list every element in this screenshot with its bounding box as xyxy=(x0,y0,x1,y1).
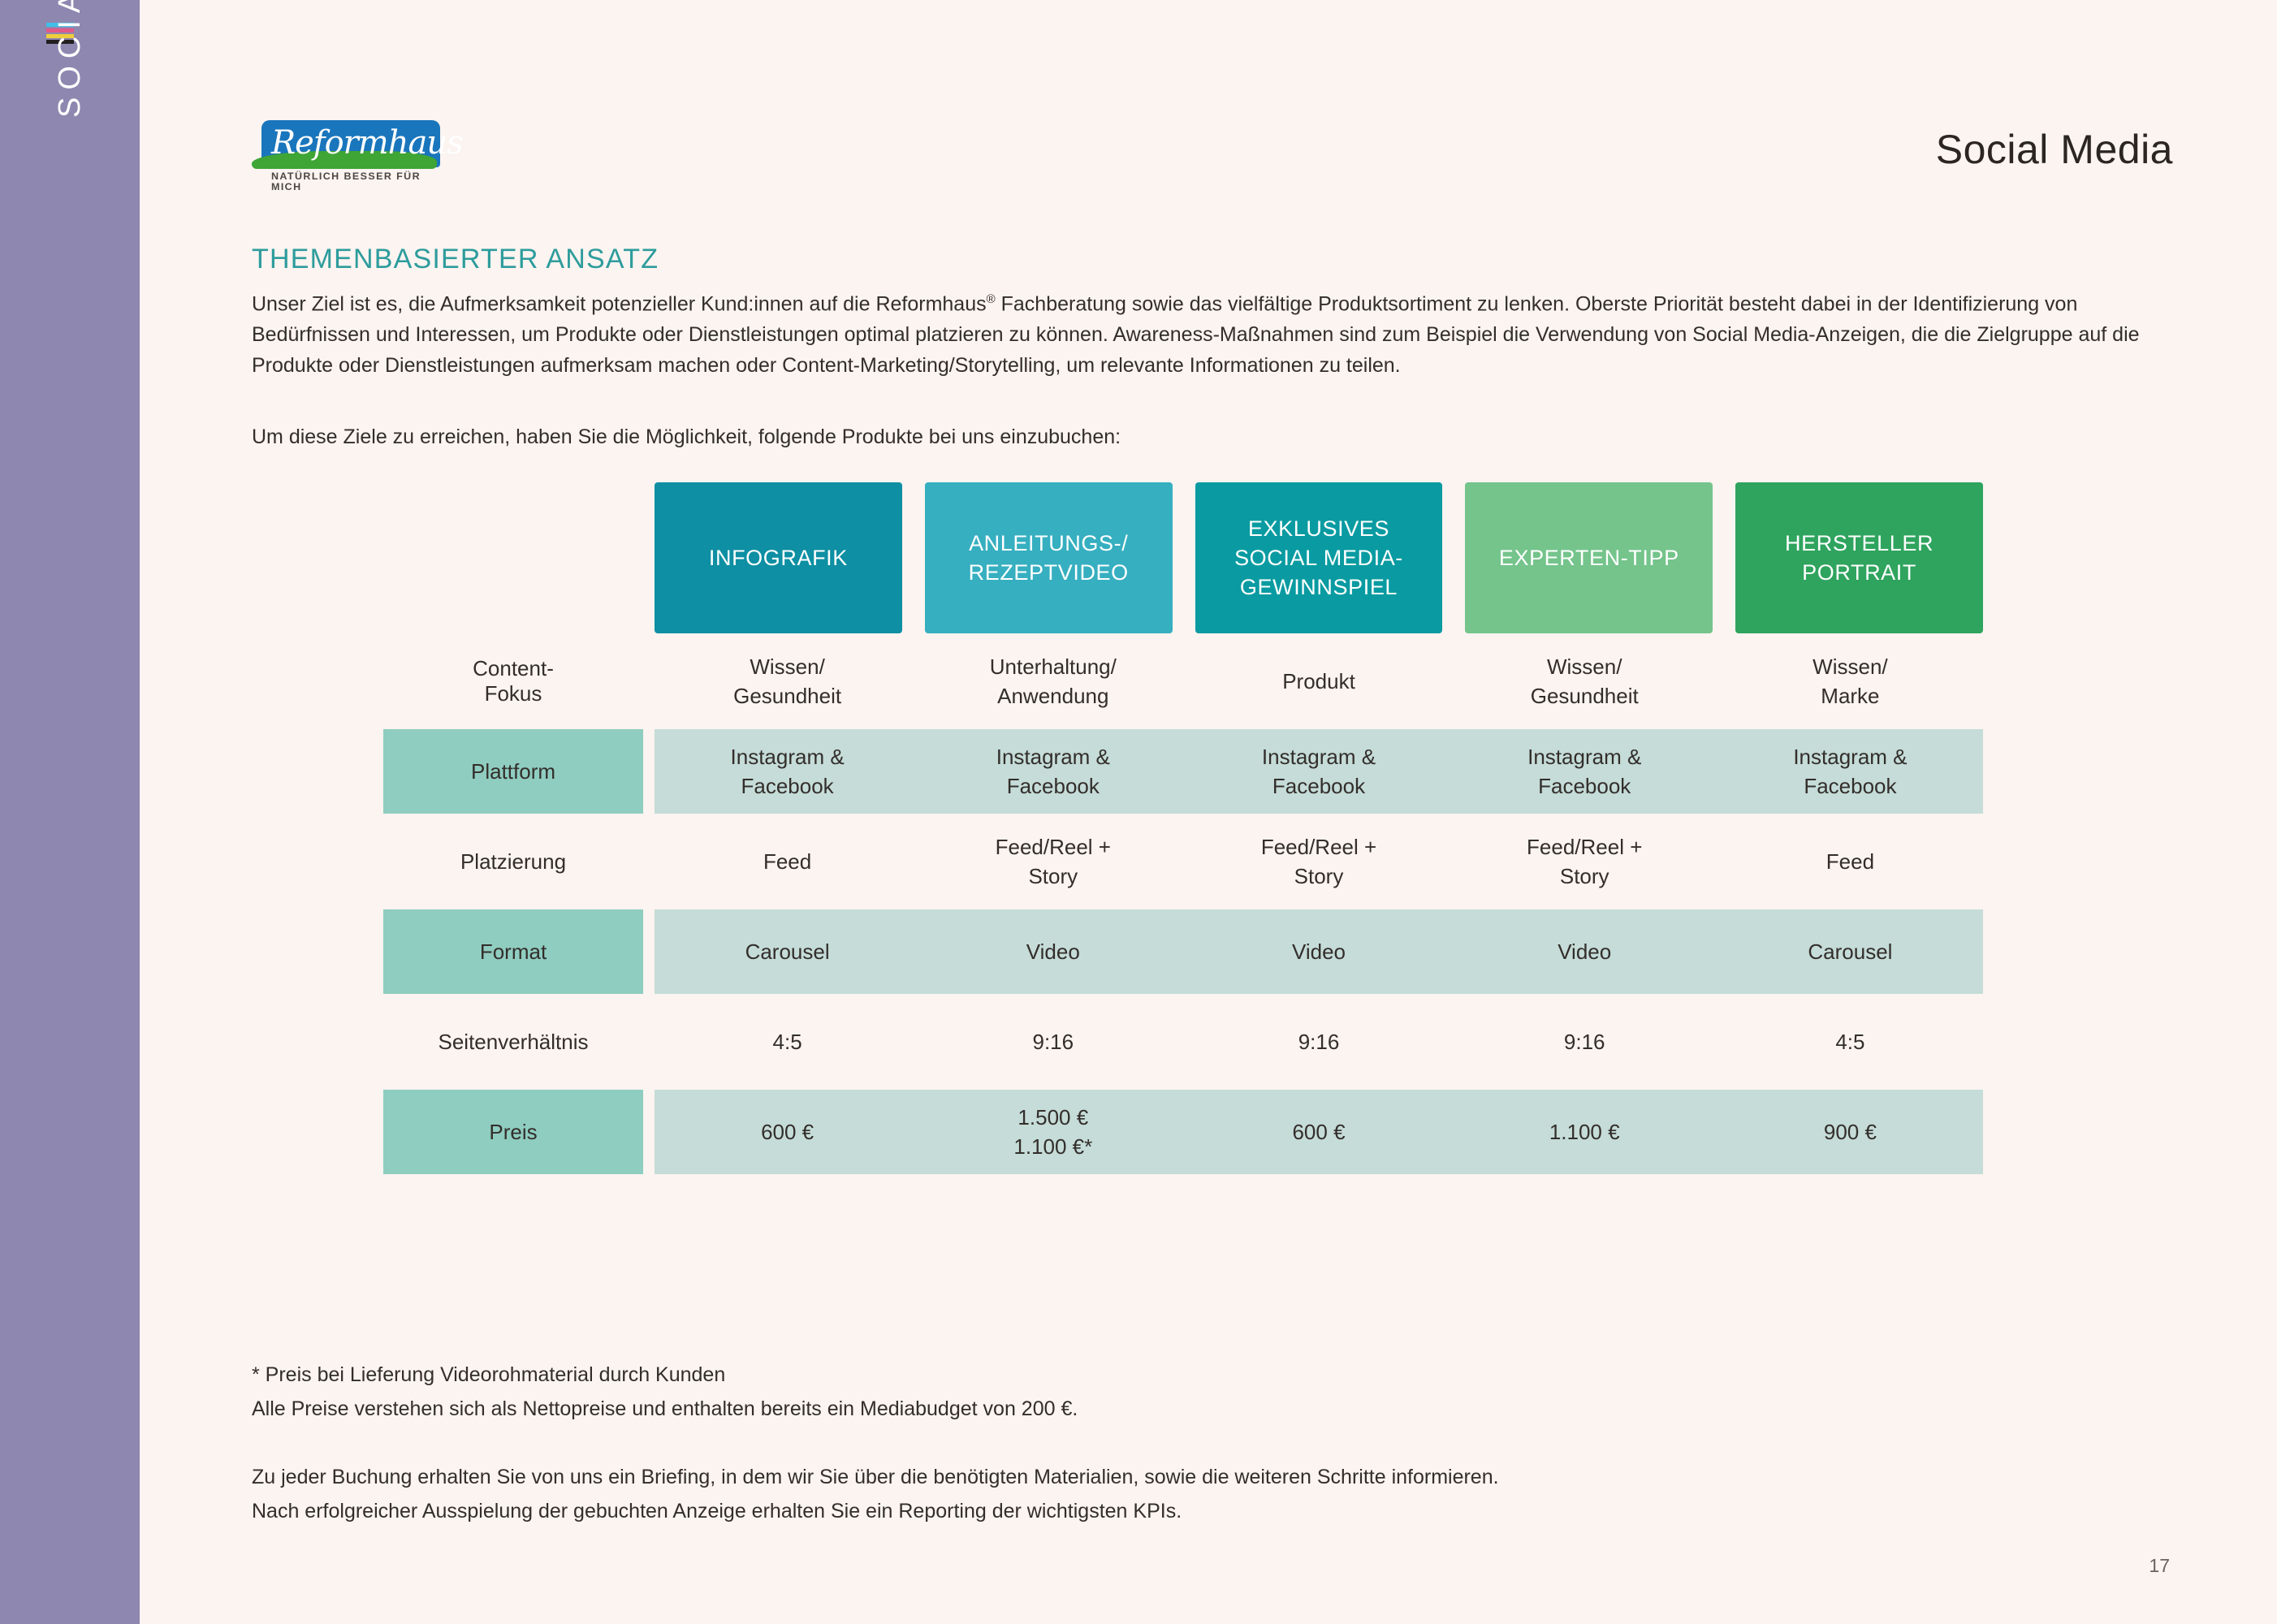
logo-tagline: NATÜRLICH BESSER FÜR MICH xyxy=(271,171,440,192)
intro-paragraph: Unser Ziel ist es, die Aufmerksamkeit po… xyxy=(252,284,2144,381)
table-cell: Feed/Reel +Story xyxy=(1186,814,1451,909)
table-row: PlattformInstagram &FacebookInstagram &F… xyxy=(383,729,1983,814)
table-cell: Wissen/Gesundheit xyxy=(655,633,920,729)
product-header-cell[interactable]: EXKLUSIVESSOCIAL MEDIA-GEWINNSPIEL xyxy=(1195,482,1443,633)
closing-note: Zu jeder Buchung erhalten Sie von uns ei… xyxy=(252,1460,1499,1528)
table-cell: Instagram &Facebook xyxy=(1717,729,1983,814)
footnotes: * Preis bei Lieferung Videorohmaterial d… xyxy=(252,1358,1078,1426)
row-gap xyxy=(643,909,655,994)
lead-line: Um diese Ziele zu erreichen, haben Sie d… xyxy=(252,425,1121,449)
row-label: Content-Fokus xyxy=(383,633,643,729)
slide-page: SOCIAL MEDIA Reformhaus NATÜRLICH BESSER… xyxy=(0,0,2277,1624)
table-cell: Instagram &Facebook xyxy=(920,729,1186,814)
table-cell: Instagram &Facebook xyxy=(655,729,920,814)
row-cells: Instagram &FacebookInstagram &FacebookIn… xyxy=(655,729,1983,814)
table-cell: Unterhaltung/Anwendung xyxy=(920,633,1186,729)
footnote-price-note: * Preis bei Lieferung Videorohmaterial d… xyxy=(252,1358,1078,1392)
row-gap xyxy=(643,994,655,1090)
row-label: Format xyxy=(383,909,643,994)
row-gap xyxy=(643,633,655,729)
table-cell: 600 € xyxy=(1186,1090,1451,1174)
table-cell: Produkt xyxy=(1186,633,1451,729)
table-cell: Wissen/Marke xyxy=(1717,633,1983,729)
row-cells: 4:59:169:169:164:5 xyxy=(655,994,1983,1090)
product-comparison-table: INFOGRAFIKANLEITUNGS-/REZEPTVIDEOEXKLUSI… xyxy=(383,482,1983,1174)
table-cell: 4:5 xyxy=(655,994,920,1090)
table-cell: 9:16 xyxy=(1452,994,1717,1090)
logo-wordmark: Reformhaus xyxy=(271,123,463,162)
table-header-row: INFOGRAFIKANLEITUNGS-/REZEPTVIDEOEXKLUSI… xyxy=(383,482,1983,633)
section-heading: THEMENBASIERTER ANSATZ xyxy=(252,244,659,275)
page-number: 17 xyxy=(2149,1555,2170,1577)
table-cell: Carousel xyxy=(655,909,920,994)
table-cell: 1.100 € xyxy=(1452,1090,1717,1174)
table-cell: Video xyxy=(1186,909,1451,994)
table-cell: 9:16 xyxy=(1186,994,1451,1090)
table-row: Content-FokusWissen/GesundheitUnterhaltu… xyxy=(383,633,1983,729)
table-cell: Feed xyxy=(655,814,920,909)
table-cell: 9:16 xyxy=(920,994,1186,1090)
table-cell: Instagram &Facebook xyxy=(1186,729,1451,814)
row-gap xyxy=(643,1090,655,1174)
table-row: PlatzierungFeedFeed/Reel +StoryFeed/Reel… xyxy=(383,814,1983,909)
row-gap xyxy=(643,814,655,909)
table-cell: Feed xyxy=(1717,814,1983,909)
row-cells: CarouselVideoVideoVideoCarousel xyxy=(655,909,1983,994)
row-cells: 600 €1.500 €1.100 €*600 €1.100 €900 € xyxy=(655,1090,1983,1174)
registered-trademark-mark: ® xyxy=(987,292,996,306)
table-row: Seitenverhältnis4:59:169:169:164:5 xyxy=(383,994,1983,1090)
product-header-cell[interactable]: HERSTELLERPORTRAIT xyxy=(1735,482,1983,633)
table-cell: Carousel xyxy=(1717,909,1983,994)
row-label: Plattform xyxy=(383,729,643,814)
table-row: Preis600 €1.500 €1.100 €*600 €1.100 €900… xyxy=(383,1090,1983,1174)
table-body: Content-FokusWissen/GesundheitUnterhaltu… xyxy=(383,633,1983,1174)
header-spacer xyxy=(383,482,643,633)
table-cell: 900 € xyxy=(1717,1090,1983,1174)
row-label: Seitenverhältnis xyxy=(383,994,643,1090)
closing-line-briefing: Zu jeder Buchung erhalten Sie von uns ei… xyxy=(252,1460,1499,1494)
row-label: Preis xyxy=(383,1090,643,1174)
table-cell: 4:5 xyxy=(1717,994,1983,1090)
row-gap xyxy=(643,729,655,814)
footnote-net-price-note: Alle Preise verstehen sich als Nettoprei… xyxy=(252,1392,1078,1426)
row-cells: FeedFeed/Reel +StoryFeed/Reel +StoryFeed… xyxy=(655,814,1983,909)
reformhaus-logo: Reformhaus NATÜRLICH BESSER FÜR MICH xyxy=(252,120,440,187)
table-cell: Video xyxy=(920,909,1186,994)
product-header-cell[interactable]: ANLEITUNGS-/REZEPTVIDEO xyxy=(925,482,1173,633)
table-row: FormatCarouselVideoVideoVideoCarousel xyxy=(383,909,1983,994)
product-header-cell[interactable]: INFOGRAFIK xyxy=(655,482,902,633)
table-cell: 600 € xyxy=(655,1090,920,1174)
table-cell: Wissen/Gesundheit xyxy=(1452,633,1717,729)
sidebar-section-label: SOCIAL MEDIA xyxy=(0,0,140,1624)
table-cell: Feed/Reel +Story xyxy=(920,814,1186,909)
table-cell: Video xyxy=(1452,909,1717,994)
row-label: Platzierung xyxy=(383,814,643,909)
closing-line-reporting: Nach erfolgreicher Ausspielung der gebuc… xyxy=(252,1494,1499,1528)
table-cell: Feed/Reel +Story xyxy=(1452,814,1717,909)
product-header-cell[interactable]: EXPERTEN-TIPP xyxy=(1465,482,1713,633)
sidebar: SOCIAL MEDIA xyxy=(0,0,140,1624)
table-cell: Instagram &Facebook xyxy=(1452,729,1717,814)
table-cell: 1.500 €1.100 €* xyxy=(920,1090,1186,1174)
row-cells: Wissen/GesundheitUnterhaltung/AnwendungP… xyxy=(655,633,1983,729)
page-title: Social Media xyxy=(1936,126,2173,173)
